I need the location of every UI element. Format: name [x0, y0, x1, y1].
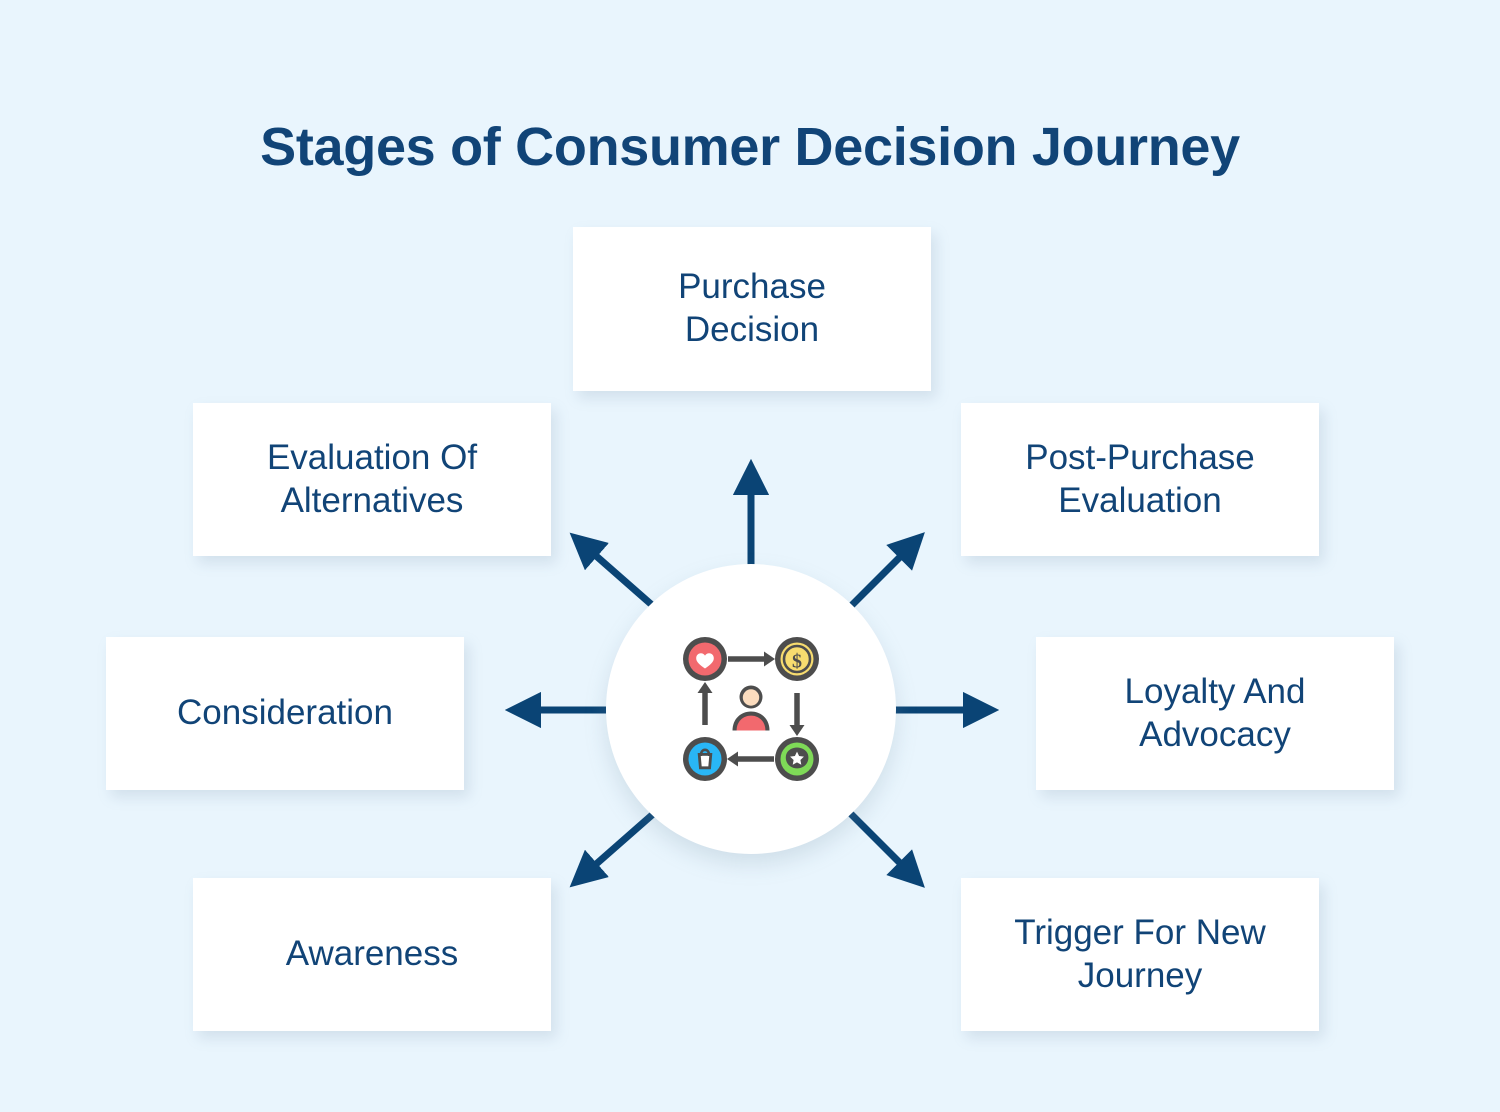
- arrow-down-left-awareness: [578, 808, 660, 880]
- star-badge-icon: [775, 737, 819, 781]
- node-consideration-label: Consideration: [177, 692, 393, 735]
- node-consideration[interactable]: Consideration: [106, 637, 464, 790]
- node-loyalty-and-advocacy-label: Loyalty And Advocacy: [1125, 671, 1306, 756]
- cycle-arrow-down-head: [790, 725, 805, 736]
- node-trigger-for-new-journey-label: Trigger For New Journey: [1014, 912, 1266, 997]
- arrow-up-left-evaluation: [578, 540, 660, 612]
- arrow-up-right-post-purchase: [845, 540, 917, 612]
- node-purchase-decision-label: Purchase Decision: [678, 266, 826, 351]
- cycle-arrow-left-head: [727, 752, 738, 767]
- consumer-decision-cycle-icon: $: [676, 635, 826, 783]
- heart-icon: [683, 637, 727, 681]
- svg-text:$: $: [792, 651, 802, 673]
- shopping-bag-icon: [683, 737, 727, 781]
- arrow-down-right-trigger: [845, 808, 917, 880]
- node-post-purchase-evaluation-label: Post-Purchase Evaluation: [1025, 437, 1255, 522]
- node-evaluation-of-alternatives-label: Evaluation Of Alternatives: [267, 437, 477, 522]
- node-awareness-label: Awareness: [286, 933, 459, 976]
- page-title: Stages of Consumer Decision Journey: [0, 118, 1500, 177]
- node-loyalty-and-advocacy[interactable]: Loyalty And Advocacy: [1036, 637, 1394, 790]
- node-purchase-decision[interactable]: Purchase Decision: [573, 227, 931, 391]
- diagram-canvas: Stages of Consumer Decision Journey: [0, 0, 1500, 1112]
- person-icon: [733, 686, 770, 731]
- node-evaluation-of-alternatives[interactable]: Evaluation Of Alternatives: [193, 403, 551, 556]
- cycle-arrow-up-head: [698, 682, 713, 693]
- center-hub: $: [606, 564, 896, 854]
- dollar-coin-icon: $: [775, 637, 819, 681]
- node-post-purchase-evaluation[interactable]: Post-Purchase Evaluation: [961, 403, 1319, 556]
- node-trigger-for-new-journey[interactable]: Trigger For New Journey: [961, 878, 1319, 1031]
- node-awareness[interactable]: Awareness: [193, 878, 551, 1031]
- cycle-arrow-right-head: [764, 652, 775, 667]
